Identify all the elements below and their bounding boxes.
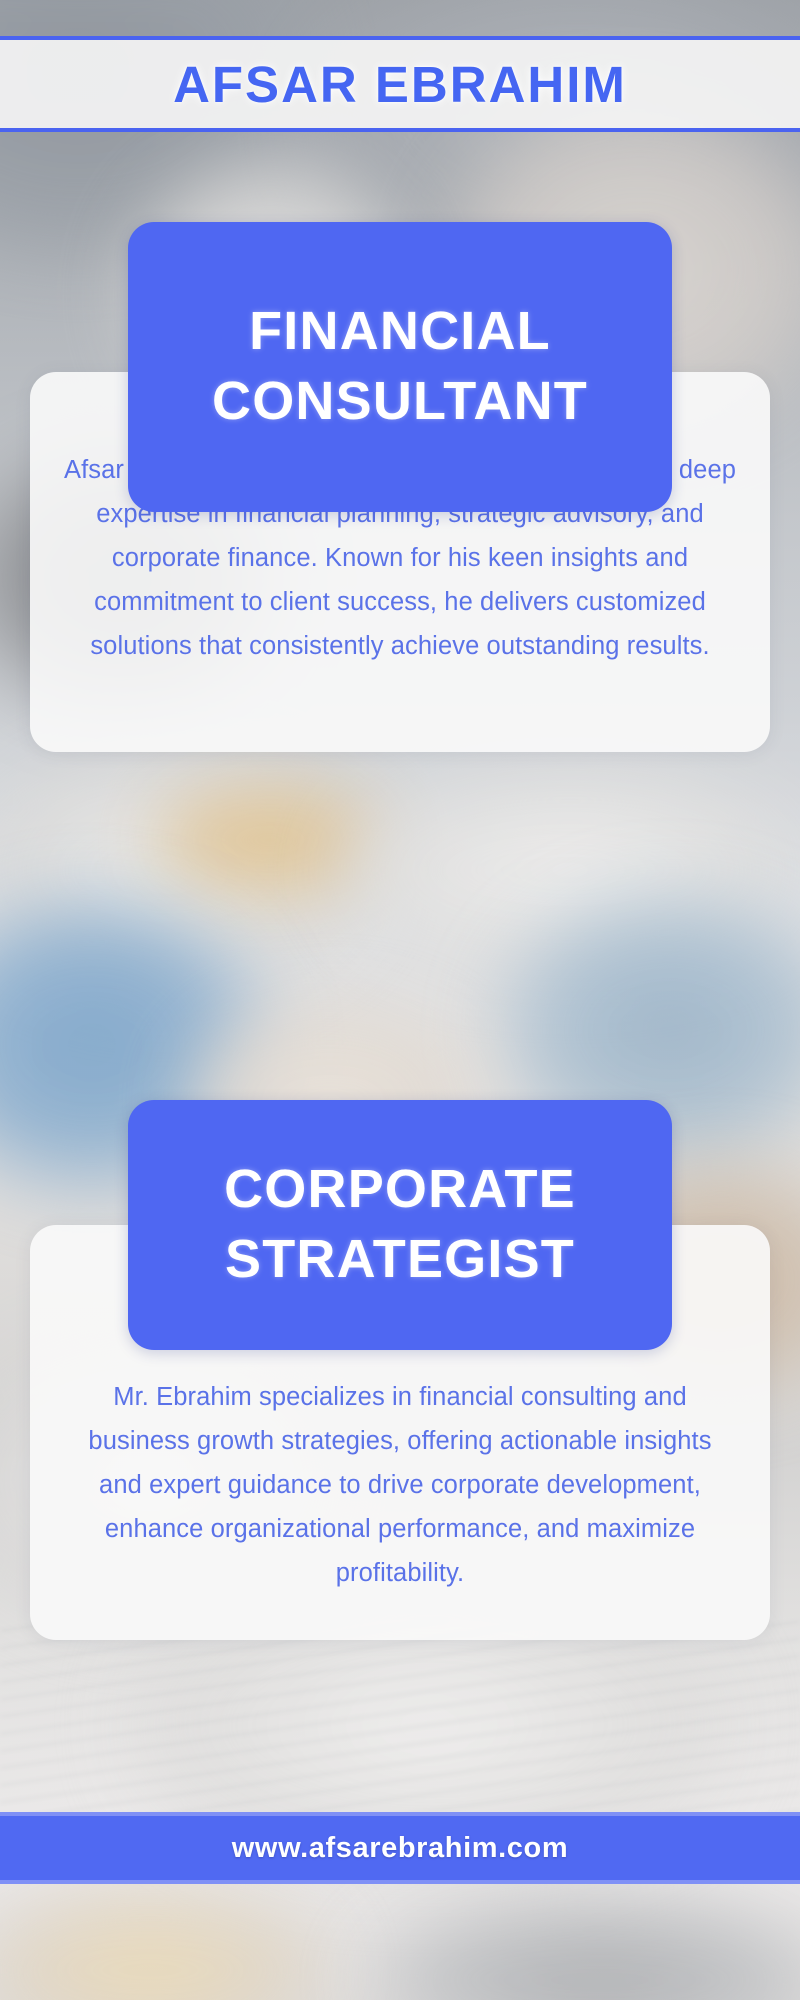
role-badge-line-2: CONSULTANT — [212, 366, 588, 436]
role-badge-line-2: STRATEGIST — [225, 1224, 575, 1294]
header-band: AFSAR EBRAHIM — [0, 36, 800, 132]
role-badge-line-1: CORPORATE — [224, 1154, 576, 1224]
poster-root: AFSAR EBRAHIM Afsar Ebrahim is a seasone… — [0, 0, 800, 2000]
website-url-link[interactable]: www.afsarebrahim.com — [232, 1832, 568, 1865]
page-title: AFSAR EBRAHIM — [173, 55, 627, 114]
role-badge: FINANCIAL CONSULTANT — [128, 222, 672, 512]
role-badge: CORPORATE STRATEGIST — [128, 1100, 672, 1350]
footer-band: www.afsarebrahim.com — [0, 1812, 800, 1884]
role-badge-line-1: FINANCIAL — [249, 296, 551, 366]
section-body-text: Mr. Ebrahim specializes in financial con… — [64, 1375, 736, 1595]
